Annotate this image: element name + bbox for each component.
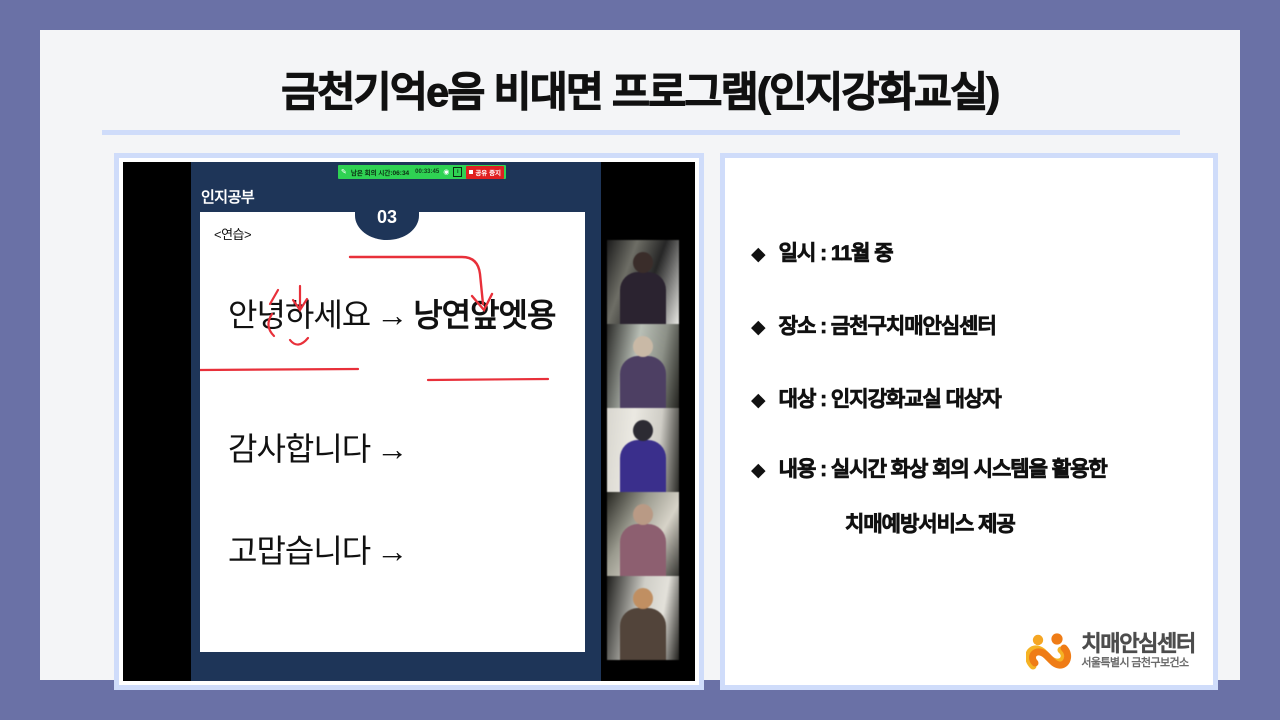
screen-capture-panel: ✎ 남은 회의 시간:06:34 00:33:45 ◉ i 공유 중지 인지공부… (114, 153, 704, 690)
info-bullet-continuation: 치매예방서비스 제공 (845, 508, 1015, 538)
arrow-icon: → (376, 431, 407, 467)
diamond-bullet-icon: ◆ (751, 461, 766, 480)
diamond-bullet-icon: ◆ (751, 245, 766, 264)
participant-tile[interactable] (607, 240, 679, 324)
board-prompt: 감사합니다 (228, 431, 370, 467)
meeting-timer-label: 남은 회의 시간:06:34 (351, 167, 409, 177)
info-bullet-text: 장소 : 금천구치매안심센터 (779, 315, 996, 339)
diamond-bullet-icon: ◆ (751, 391, 766, 410)
board-prompt: 고맙습니다 (228, 533, 370, 569)
info-bullet: ◆ 장소 : 금천구치매안심센터 (751, 315, 996, 339)
arrow-icon: → (376, 297, 407, 333)
zoom-share-toolbar[interactable]: ✎ 남은 회의 시간:06:34 00:33:45 ◉ i 공유 중지 (338, 165, 506, 179)
participant-video-strip[interactable] (607, 240, 679, 660)
red-annotation-marks (200, 252, 585, 452)
screen-capture-image: ✎ 남은 회의 시간:06:34 00:33:45 ◉ i 공유 중지 인지공부… (123, 162, 695, 681)
arrow-icon: → (376, 533, 407, 569)
info-bullet: ◆ 내용 : 실시간 화상 회의 시스템을 활용한 (751, 458, 1107, 482)
logo-subtitle: 서울특별시 금천구보건소 (1081, 658, 1195, 670)
participant-tile[interactable] (607, 576, 679, 660)
participant-tile[interactable] (607, 408, 679, 492)
board-row: 고맙습니다→ (228, 526, 413, 572)
dementia-center-logo-icon (1026, 631, 1072, 671)
info-bullet: ◆ 대상 : 인지강화교실 대상자 (751, 388, 1001, 412)
slide-section-label: 인지공부 (201, 186, 254, 207)
participant-tile[interactable] (607, 492, 679, 576)
diamond-bullet-icon: ◆ (751, 318, 766, 337)
info-bullet: ◆ 일시 : 11월 중 (751, 242, 893, 266)
board-row: 감사합니다→ (228, 424, 413, 470)
info-bullet-text: 일시 : 11월 중 (779, 242, 893, 266)
exercise-label: <연습> (214, 224, 251, 243)
info-bullet-text: 대상 : 인지강화교실 대상자 (779, 388, 1001, 412)
pencil-icon[interactable]: ✎ (341, 168, 347, 176)
title-divider (102, 130, 1180, 135)
info-panel: ◆ 일시 : 11월 중 ◆ 장소 : 금천구치매안심센터 ◆ 대상 : 인지강… (720, 153, 1218, 690)
board-answer: 낭연앞엣용 (413, 297, 555, 333)
info-icon[interactable]: i (453, 167, 462, 177)
page-title: 금천기억e음 비대면 프로그램(인지강화교실) (40, 58, 1240, 118)
board-row: 안녕하세요→낭연앞엣용 (228, 290, 555, 336)
whiteboard: <연습> 안녕하세요→낭연앞엣용 감사합니다→ 고맙습니다→ (200, 212, 585, 652)
logo-title: 치매안심센터 (1081, 632, 1195, 655)
info-bullet-text: 내용 : 실시간 화상 회의 시스템을 활용한 (779, 458, 1107, 482)
slide-card: 금천기억e음 비대면 프로그램(인지강화교실) ✎ 남은 회의 시간:06:34… (40, 30, 1240, 680)
logo-text: 치매안심센터 서울특별시 금천구보건소 (1081, 632, 1195, 670)
elapsed-time: 00:33:45 (415, 169, 439, 175)
record-icon[interactable]: ◉ (443, 168, 449, 176)
stop-share-label: 공유 중지 (475, 167, 501, 177)
organization-logo: 치매안심센터 서울특별시 금천구보건소 (1026, 631, 1195, 671)
stop-square-icon (469, 170, 473, 174)
board-prompt: 안녕하세요 (228, 297, 370, 333)
participant-tile[interactable] (607, 324, 679, 408)
stop-share-button[interactable]: 공유 중지 (466, 166, 504, 179)
